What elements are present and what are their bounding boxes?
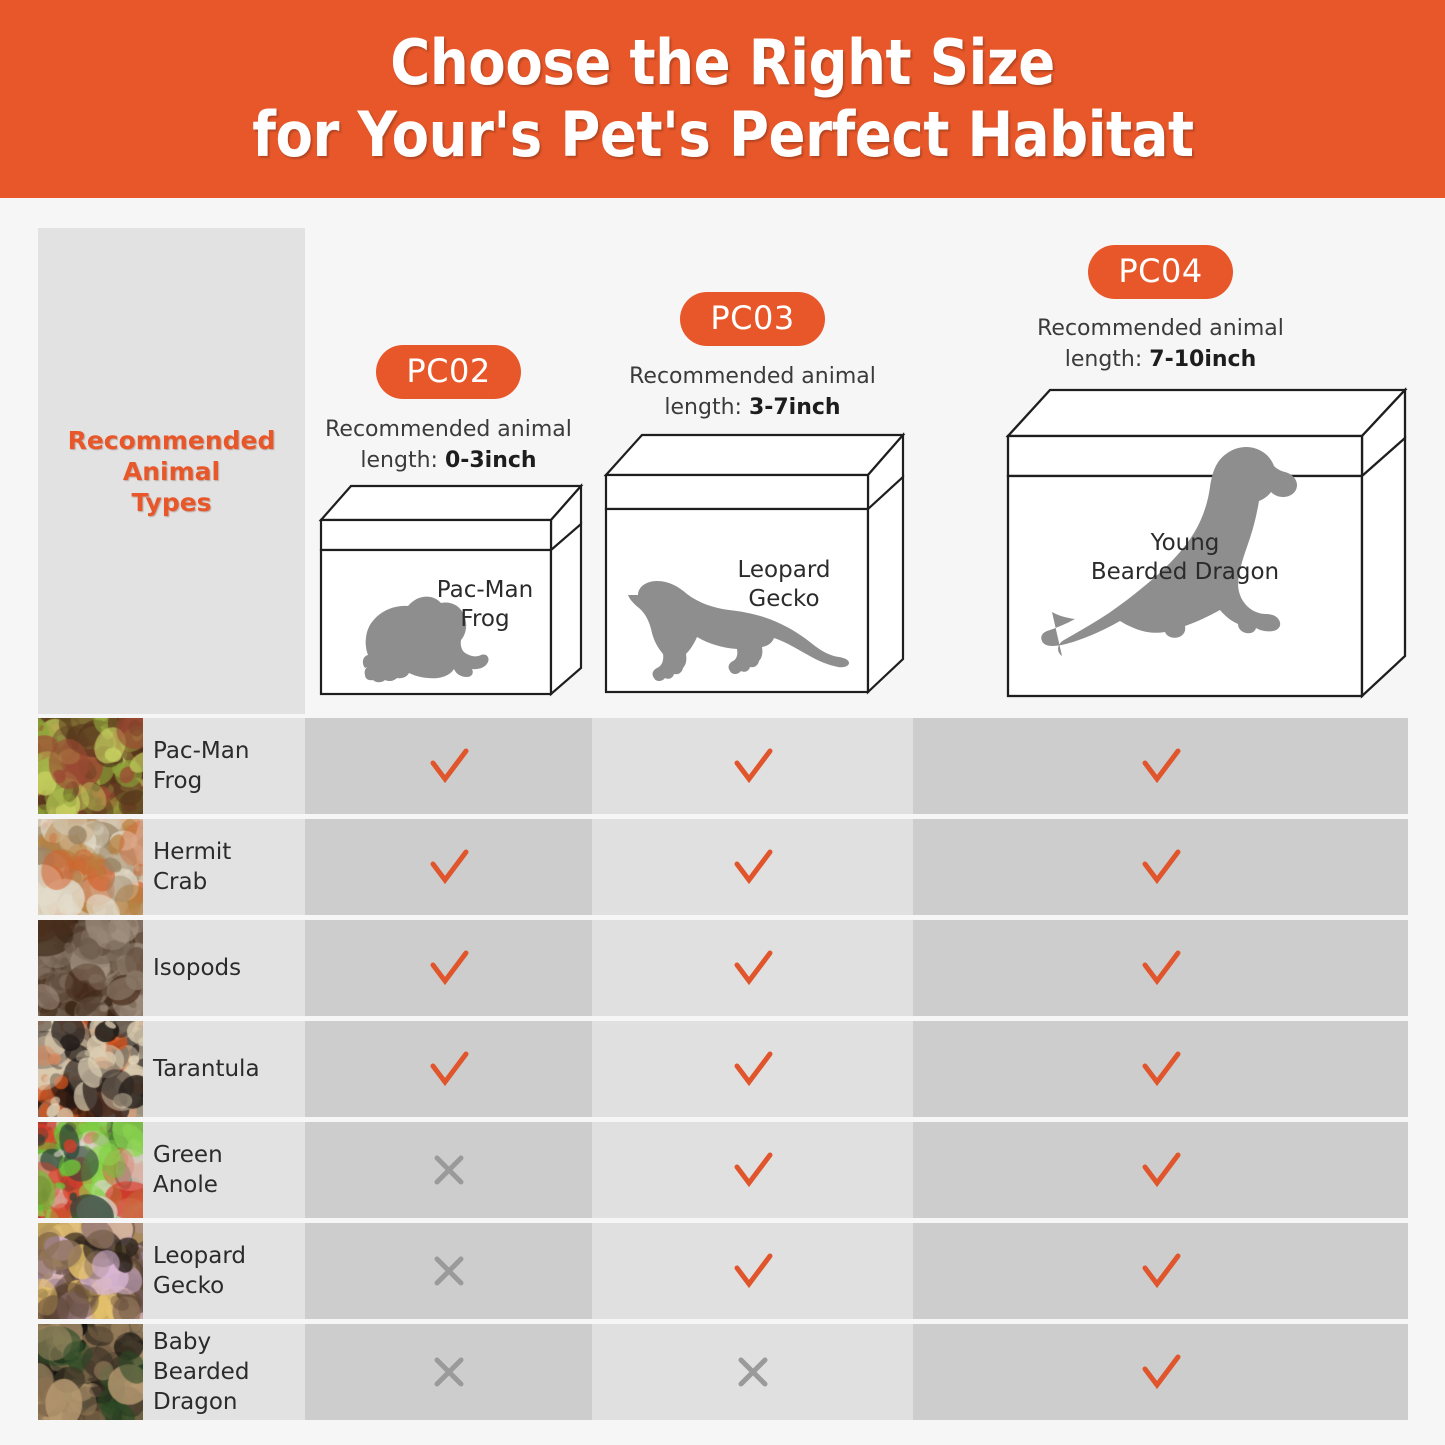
row-header-line-2: Animal xyxy=(68,456,276,487)
check-icon xyxy=(727,1043,779,1095)
check-icon xyxy=(423,841,475,893)
pc03-recommendation: Recommended animal length: 3-7inch xyxy=(592,361,913,423)
compatibility-cell-yes xyxy=(913,819,1408,915)
animal-photo xyxy=(38,1021,143,1117)
animal-name-line-1: Tarantula xyxy=(153,1054,260,1084)
compatibility-cell-yes xyxy=(592,1223,913,1319)
pc02-box-illustration: Pac-Man Frog xyxy=(313,472,588,704)
check-icon xyxy=(423,1043,475,1095)
pc02-badge: PC02 xyxy=(376,345,520,399)
cross-icon xyxy=(423,1144,475,1196)
compatibility-cell-yes xyxy=(913,1324,1408,1420)
animal-name-line-2: Anole xyxy=(153,1170,223,1200)
animal-name-cell: GreenAnole xyxy=(143,1122,305,1218)
check-icon xyxy=(727,1144,779,1196)
animal-name-line-1: Baby Bearded xyxy=(153,1327,305,1387)
animal-name-line-1: Green xyxy=(153,1140,223,1170)
check-icon xyxy=(1135,841,1187,893)
pc03-box-label-line-1: Leopard xyxy=(738,557,831,583)
compatibility-cell-yes xyxy=(913,1021,1408,1117)
compatibility-cell-yes xyxy=(913,920,1408,1016)
column-header-pc02[interactable]: PC02 Recommended animal length: 0-3inch xyxy=(305,228,592,714)
animal-name-cell: Baby BeardedDragon xyxy=(143,1324,305,1420)
pc02-box-label-line-1: Pac-Man xyxy=(437,577,533,603)
check-icon xyxy=(423,740,475,792)
pc02-rec-prefix: Recommended animal xyxy=(325,417,572,442)
animal-name-line-2: Dragon xyxy=(153,1387,305,1417)
page-header: Choose the Right Size for Your's Pet's P… xyxy=(0,0,1445,198)
compatibility-cell-yes xyxy=(592,718,913,814)
animal-name-line-2: Frog xyxy=(153,766,249,796)
size-comparison-table: Recommended Animal Types PC02 Recommende… xyxy=(38,228,1408,1408)
animal-name-line-2: Crab xyxy=(153,867,231,897)
compatibility-cell-no xyxy=(305,1324,592,1420)
compatibility-cell-yes xyxy=(913,1122,1408,1218)
column-header-pc04[interactable]: PC04 Recommended animal length: 7-10inch xyxy=(913,228,1408,714)
animal-name-line-1: Leopard xyxy=(153,1241,246,1271)
pc04-badge: PC04 xyxy=(1088,245,1232,299)
check-icon xyxy=(1135,1043,1187,1095)
table-row: Isopods xyxy=(38,920,1408,1016)
page-title-line-1: Choose the Right Size xyxy=(390,27,1054,99)
cross-icon xyxy=(423,1346,475,1398)
compatibility-cell-yes xyxy=(305,718,592,814)
animal-name-cell: HermitCrab xyxy=(143,819,305,915)
table-row: Tarantula xyxy=(38,1021,1408,1117)
pc04-recommendation: Recommended animal length: 7-10inch xyxy=(913,313,1408,375)
pc03-badge: PC03 xyxy=(680,292,824,346)
table-row: LeopardGecko xyxy=(38,1223,1408,1319)
check-icon xyxy=(727,942,779,994)
animal-name-cell: Pac-ManFrog xyxy=(143,718,305,814)
compatibility-cell-no xyxy=(305,1223,592,1319)
pc02-badge-wrap: PC02 xyxy=(305,345,592,399)
pc04-box-label-line-2: Bearded Dragon xyxy=(1091,559,1279,585)
pc03-rec-label: length: xyxy=(664,395,742,420)
check-icon xyxy=(1135,942,1187,994)
table-row: Baby BeardedDragon xyxy=(38,1324,1408,1420)
table-row: HermitCrab xyxy=(38,819,1408,915)
table-row: GreenAnole xyxy=(38,1122,1408,1218)
compatibility-cell-yes xyxy=(305,819,592,915)
row-header-line-3: Types xyxy=(68,487,276,518)
column-header-pc03[interactable]: PC03 Recommended animal length: 3-7inch xyxy=(592,228,913,714)
row-header-corner-cell: Recommended Animal Types xyxy=(38,228,305,714)
pc02-box-label-line-2: Frog xyxy=(460,606,509,632)
compatibility-cell-yes xyxy=(592,1122,913,1218)
animal-name-cell: LeopardGecko xyxy=(143,1223,305,1319)
compatibility-cell-yes xyxy=(913,1223,1408,1319)
pc03-badge-wrap: PC03 xyxy=(592,292,913,346)
pc04-rec-prefix: Recommended animal xyxy=(1037,316,1284,341)
check-icon xyxy=(727,740,779,792)
table-header-row: Recommended Animal Types PC02 Recommende… xyxy=(38,228,1408,714)
animal-name-line-1: Pac-Man xyxy=(153,736,249,766)
pc02-rec-value: 0-3inch xyxy=(445,448,537,473)
animal-name-line-1: Isopods xyxy=(153,953,241,983)
animal-photo xyxy=(38,718,143,814)
animal-photo xyxy=(38,819,143,915)
compatibility-cell-yes xyxy=(305,920,592,1016)
pc03-box-label-line-2: Gecko xyxy=(748,586,819,612)
check-icon xyxy=(727,841,779,893)
compatibility-cell-no xyxy=(305,1122,592,1218)
animal-name-cell: Tarantula xyxy=(143,1021,305,1117)
cross-icon xyxy=(727,1346,779,1398)
check-icon xyxy=(1135,740,1187,792)
pc03-rec-value: 3-7inch xyxy=(749,395,841,420)
check-icon xyxy=(1135,1144,1187,1196)
page-title-line-2: for Your's Pet's Perfect Habitat xyxy=(252,99,1193,171)
check-icon xyxy=(727,1245,779,1297)
compatibility-cell-yes xyxy=(592,1021,913,1117)
pc04-box-label-line-1: Young xyxy=(1150,530,1220,556)
animal-photo xyxy=(38,920,143,1016)
animal-photo xyxy=(38,1223,143,1319)
animal-photo xyxy=(38,1122,143,1218)
check-icon xyxy=(423,942,475,994)
row-header-line-1: Recommended xyxy=(68,425,276,456)
table-row: Pac-ManFrog xyxy=(38,718,1408,814)
recommended-animal-types-label: Recommended Animal Types xyxy=(68,425,276,518)
animal-name-line-2: Gecko xyxy=(153,1271,246,1301)
cross-icon xyxy=(423,1245,475,1297)
compatibility-cell-yes xyxy=(913,718,1408,814)
compatibility-cell-yes xyxy=(592,819,913,915)
compatibility-cell-yes xyxy=(592,920,913,1016)
animal-name-line-1: Hermit xyxy=(153,837,231,867)
pc02-rec-label: length: xyxy=(360,448,438,473)
animal-name-cell: Isopods xyxy=(143,920,305,1016)
pc03-box-illustration: Leopard Gecko xyxy=(598,419,910,704)
pc04-badge-wrap: PC04 xyxy=(913,245,1408,299)
pc04-box-illustration: Young Bearded Dragon xyxy=(1000,368,1412,708)
pc03-rec-prefix: Recommended animal xyxy=(629,364,876,389)
compatibility-cell-yes xyxy=(305,1021,592,1117)
compatibility-cell-no xyxy=(592,1324,913,1420)
animal-photo xyxy=(38,1324,143,1420)
check-icon xyxy=(1135,1245,1187,1297)
pc02-recommendation: Recommended animal length: 0-3inch xyxy=(305,414,592,476)
check-icon xyxy=(1135,1346,1187,1398)
